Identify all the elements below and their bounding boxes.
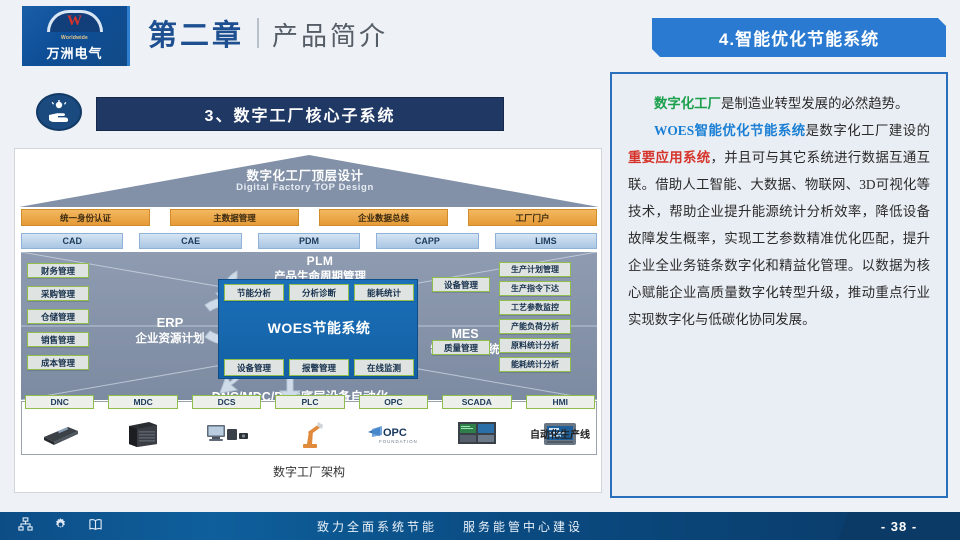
diagram-caption: 数字工厂架构 [15, 463, 603, 480]
tool-item-label: PDM [299, 236, 319, 246]
woes-title: WOES节能系统 [219, 318, 419, 338]
tool-item: PDM [258, 233, 360, 249]
woes-module: 设备管理 [224, 359, 284, 376]
platform-item: 企业数据总线 [319, 209, 448, 226]
tool-item-label: CAE [181, 236, 200, 246]
svg-text:OPC: OPC [383, 427, 407, 439]
logo-cn-name: 万洲电气 [46, 43, 102, 62]
controller-box-icon [25, 415, 94, 453]
erp-module-list: 财务管理 采购管理 仓储管理 销售管理 成本管理 [27, 263, 89, 370]
tool-item: LIMS [495, 233, 597, 249]
tool-item: CAD [21, 233, 123, 249]
paragraph-1: 数字化工厂是制造业转型发展的必然趋势。 [628, 90, 930, 117]
tool-item: CAPP [376, 233, 478, 249]
device-tab-row: DNC MDC DCS PLC OPC SCADA HMI [25, 395, 595, 409]
svg-text:FOUNDATION: FOUNDATION [379, 439, 418, 444]
chapter-title: 产品简介 [272, 16, 388, 53]
chapter-heading: 第二章 产品简介 [148, 12, 388, 54]
mes-module: 产能负荷分析 [499, 319, 571, 334]
topic-ribbon: 4.智能优化节能系统 [652, 18, 946, 57]
page-number-badge: - 38 - [838, 512, 960, 540]
section-title-label: 3、数字工厂核心子系统 [205, 102, 396, 126]
device-tab: HMI [526, 395, 595, 409]
footer-slogan-2: 服务能管中心建设 [463, 518, 583, 535]
platform-item-label: 主数据管理 [213, 212, 256, 224]
page-number: - 38 - [881, 519, 917, 534]
mes-module: 原料统计分析 [499, 338, 571, 353]
tool-item-label: LIMS [535, 236, 557, 246]
erp-module: 成本管理 [27, 355, 89, 370]
paragraph-2: WOES智能优化节能系统是数字化工厂建设的重要应用系统，并且可与其它系统进行数据… [628, 117, 930, 333]
chapter-number: 第二章 [148, 12, 244, 54]
topic-ribbon-label: 4.智能优化节能系统 [719, 25, 879, 50]
woes-top-modules: 节能分析 分析诊断 能耗统计 [224, 284, 414, 301]
logo-arc-icon: W [47, 10, 103, 34]
highlight-digital-factory: 数字化工厂 [654, 96, 721, 111]
platform-item-label: 工厂门户 [515, 212, 549, 224]
woes-module: 在线监测 [354, 359, 414, 376]
device-tab: PLC [275, 395, 344, 409]
platform-item: 主数据管理 [170, 209, 299, 226]
server-rack-icon [108, 415, 177, 453]
woes-system-block: 节能分析 分析诊断 能耗统计 WOES节能系统 设备管理 报警管理 在线监测 [218, 279, 418, 379]
logo-en-name: Worldwide [61, 35, 88, 41]
device-layer-strip: DNC MDC DCS PLC OPC SCADA HMI [21, 401, 597, 455]
slide-footer: 致力全面系统节能 服务能管中心建设 - 38 - [0, 512, 960, 540]
tool-item-label: CAD [62, 236, 82, 246]
mes-module: 生产指令下达 [499, 281, 571, 296]
mes-module: 生产计划管理 [499, 262, 571, 277]
platform-services-row: 统一身份认证 主数据管理 企业数据总线 工厂门户 [21, 209, 597, 226]
erp-module: 采购管理 [27, 286, 89, 301]
para2-seg2: ，并且可与其它系统进行数据互通互联。借助人工智能、大数据、物联网、3D可视化等技… [628, 150, 930, 327]
highlight-woes-system: WOES智能优化节能系统 [654, 123, 806, 138]
woes-module: 节能分析 [224, 284, 284, 301]
production-line-label: 自动化生产线 [530, 426, 590, 441]
platform-item-label: 统一身份认证 [60, 212, 111, 224]
design-tools-row: CAD CAE PDM CAPP LIMS [21, 233, 597, 249]
section-title-bar: 3、数字工厂核心子系统 [96, 97, 504, 131]
robot-arm-icon [275, 415, 344, 453]
mes-module: 工艺参数监控 [499, 300, 571, 315]
highlight-key-application: 重要应用系统 [628, 150, 710, 165]
mes-module-list-right: 生产计划管理 生产指令下达 工艺参数监控 产能负荷分析 原料统计分析 能耗统计分… [499, 262, 571, 372]
tool-item: CAE [139, 233, 241, 249]
device-tab: OPC [359, 395, 428, 409]
device-tab: DCS [192, 395, 261, 409]
device-tab: DNC [25, 395, 94, 409]
device-tab: MDC [108, 395, 177, 409]
workstation-icon [192, 415, 261, 453]
roof-title-en: Digital Factory TOP Design [15, 182, 595, 193]
description-panel: 数字化工厂是制造业转型发展的必然趋势。 WOES智能优化节能系统是数字化工厂建设… [610, 72, 948, 498]
platform-item: 统一身份认证 [21, 209, 150, 226]
tool-item-label: CAPP [415, 236, 440, 246]
platform-item: 工厂门户 [468, 209, 597, 226]
control-room-screens-icon [442, 415, 511, 453]
hand-presenting-idea-icon [36, 93, 82, 131]
woes-module: 报警管理 [289, 359, 349, 376]
platform-item-label: 企业数据总线 [358, 212, 409, 224]
heading-divider [257, 18, 259, 48]
para2-seg1: 是数字化工厂建设的 [806, 123, 930, 138]
woes-bottom-modules: 设备管理 报警管理 在线监测 [224, 359, 414, 376]
logo-letter: W [47, 11, 103, 31]
opc-logo-icon: OPC FOUNDATION [359, 415, 428, 453]
woes-module: 分析诊断 [289, 284, 349, 301]
woes-module: 能耗统计 [354, 284, 414, 301]
device-tab: SCADA [442, 395, 511, 409]
erp-module: 销售管理 [27, 332, 89, 347]
slide-header: W Worldwide 万洲电气 第二章 产品简介 4.智能优化节能系统 [0, 0, 960, 72]
digital-factory-architecture-diagram: 数字化工厂顶层设计 Digital Factory TOP Design 统一身… [14, 148, 602, 493]
erp-module: 仓储管理 [27, 309, 89, 324]
footer-slogan: 致力全面系统节能 服务能管中心建设 [0, 512, 900, 540]
erp-module: 财务管理 [27, 263, 89, 278]
footer-slogan-1: 致力全面系统节能 [317, 518, 437, 535]
para1-rest: 是制造业转型发展的必然趋势。 [721, 96, 908, 111]
mes-module: 能耗统计分析 [499, 357, 571, 372]
company-logo: W Worldwide 万洲电气 [22, 6, 130, 66]
